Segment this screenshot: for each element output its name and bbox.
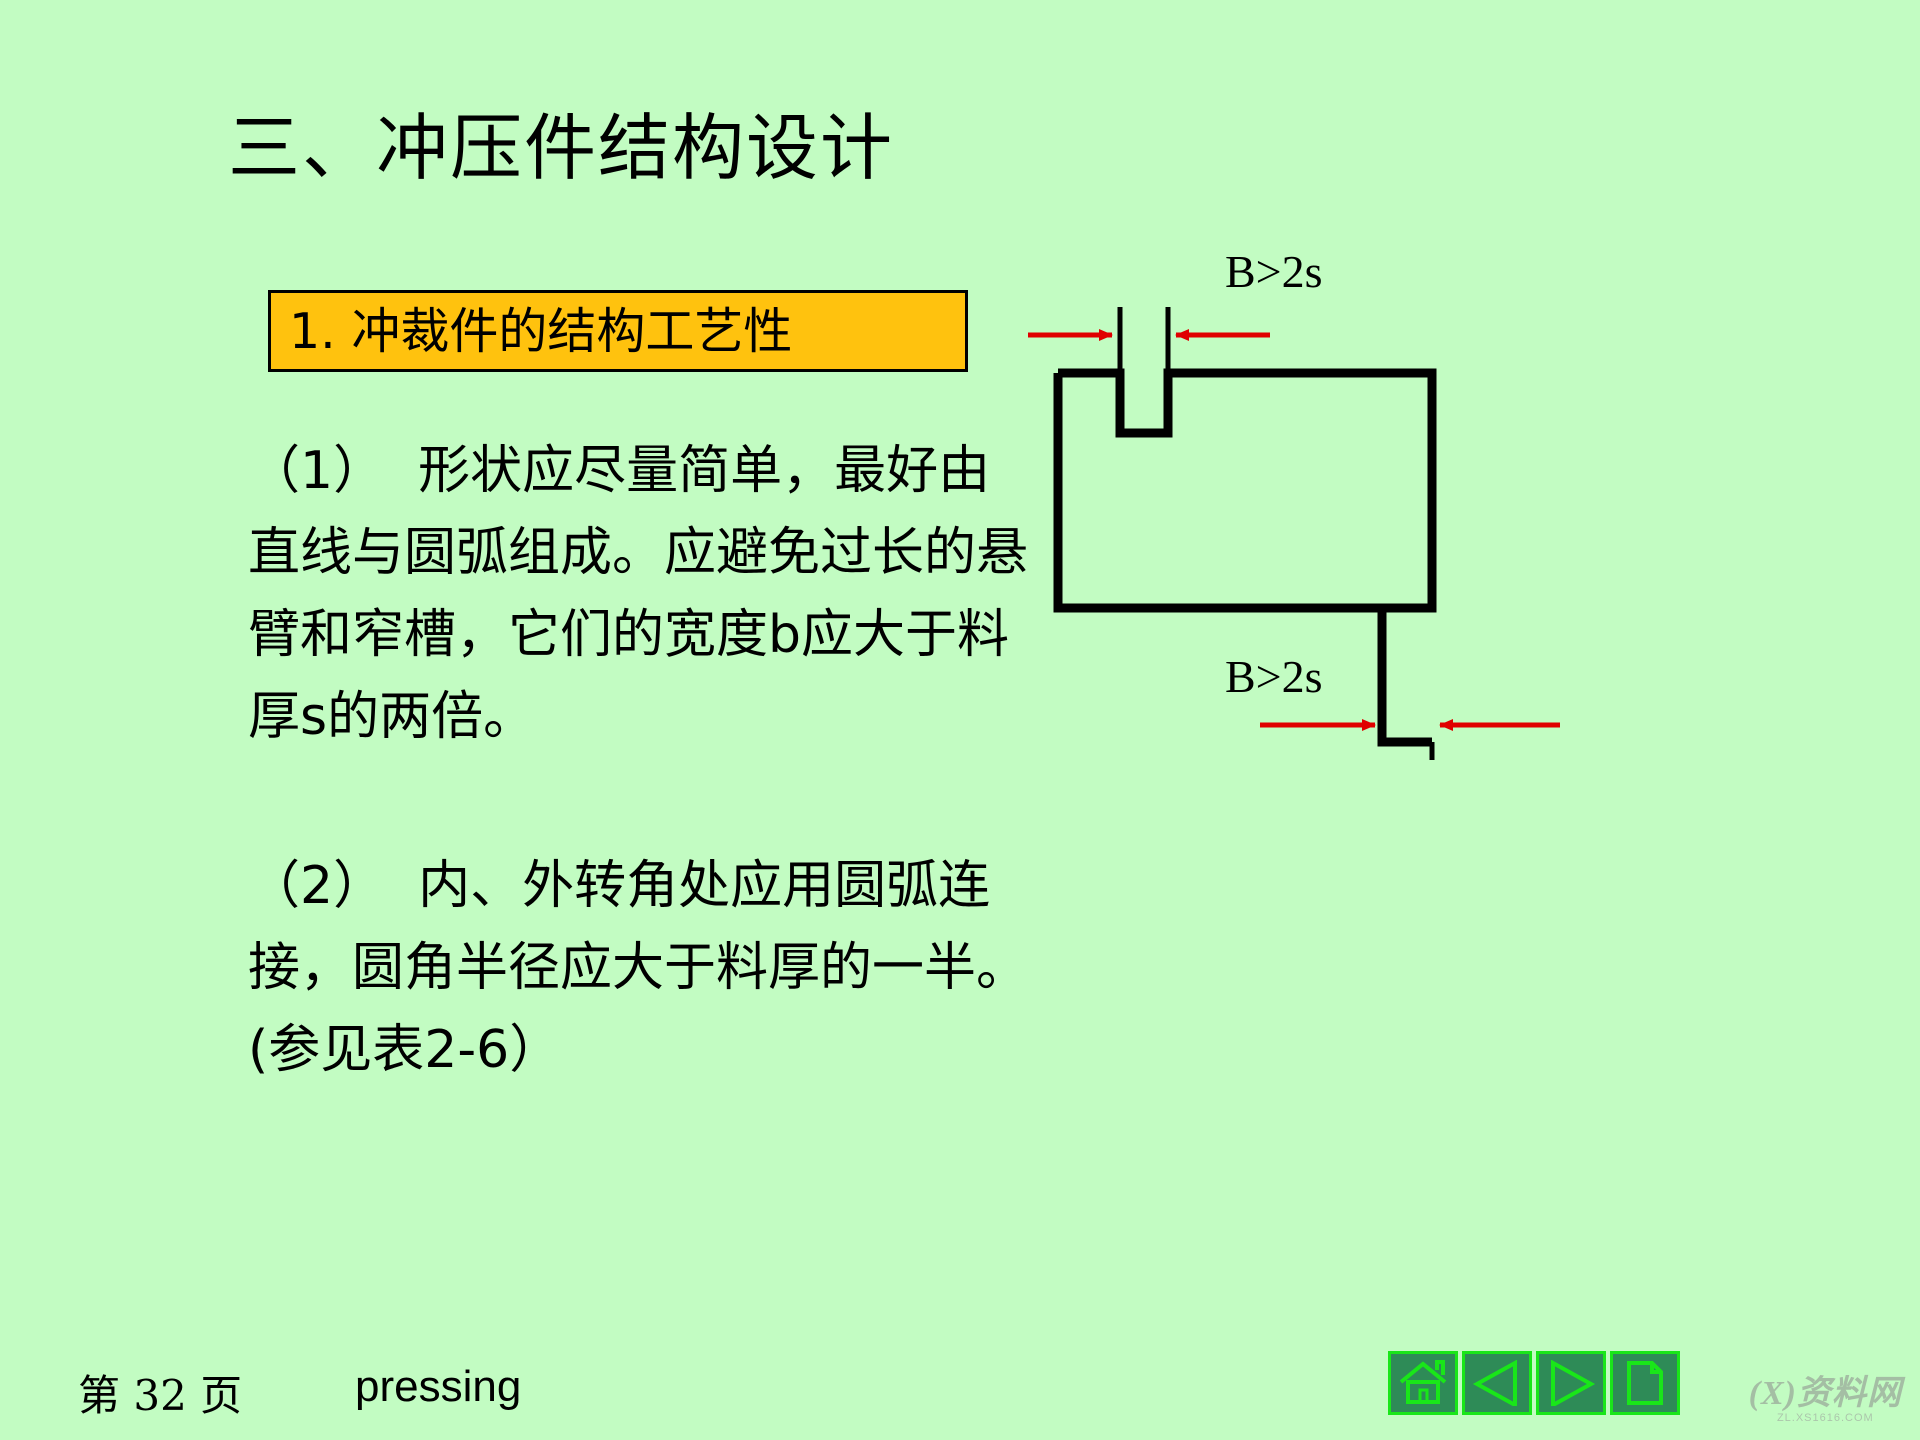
nav-page-button[interactable] (1610, 1351, 1680, 1415)
body-paragraph-1: （1） 形状应尽量简单，最好由直线与圆弧组成。应避免过长的悬臂和窄槽，它们的宽度… (248, 430, 1038, 758)
body-paragraph-2: （2） 内、外转角处应用圆弧连接，圆角半径应大于料厚的一半。(参见表2-6） (248, 845, 1038, 1091)
footer-page-number: 第 32 页 (78, 1362, 242, 1423)
previous-triangle-icon (1471, 1360, 1523, 1406)
slide-canvas: 三、冲压件结构设计 1. 冲裁件的结构工艺性 （1） 形状应尽量简单，最好由直线… (0, 0, 1920, 1440)
page-title: 三、冲压件结构设计 (228, 112, 894, 184)
watermark-logo: (X)资料网 (1749, 1377, 1902, 1411)
navigation-bar (1388, 1351, 1680, 1415)
next-triangle-icon (1545, 1360, 1597, 1406)
page-document-icon (1622, 1360, 1668, 1406)
dimension-label-top: B>2s (1225, 245, 1323, 298)
watermark: (X)资料网 ZL.XS1616.COM (1749, 1377, 1902, 1426)
nav-previous-button[interactable] (1462, 1351, 1532, 1415)
nav-next-button[interactable] (1536, 1351, 1606, 1415)
section-heading-label: 1. 冲裁件的结构工艺性 (289, 307, 792, 356)
dimension-label-bottom: B>2s (1225, 650, 1323, 703)
nav-home-button[interactable] (1388, 1351, 1458, 1415)
watermark-url: ZL.XS1616.COM (1749, 1411, 1902, 1426)
footer-subject: pressing (355, 1362, 521, 1412)
home-icon (1397, 1360, 1449, 1406)
section-heading-box: 1. 冲裁件的结构工艺性 (268, 290, 968, 372)
technical-drawing: B>2s B>2s (1020, 255, 1580, 775)
slot-extension-lines (1120, 307, 1168, 373)
